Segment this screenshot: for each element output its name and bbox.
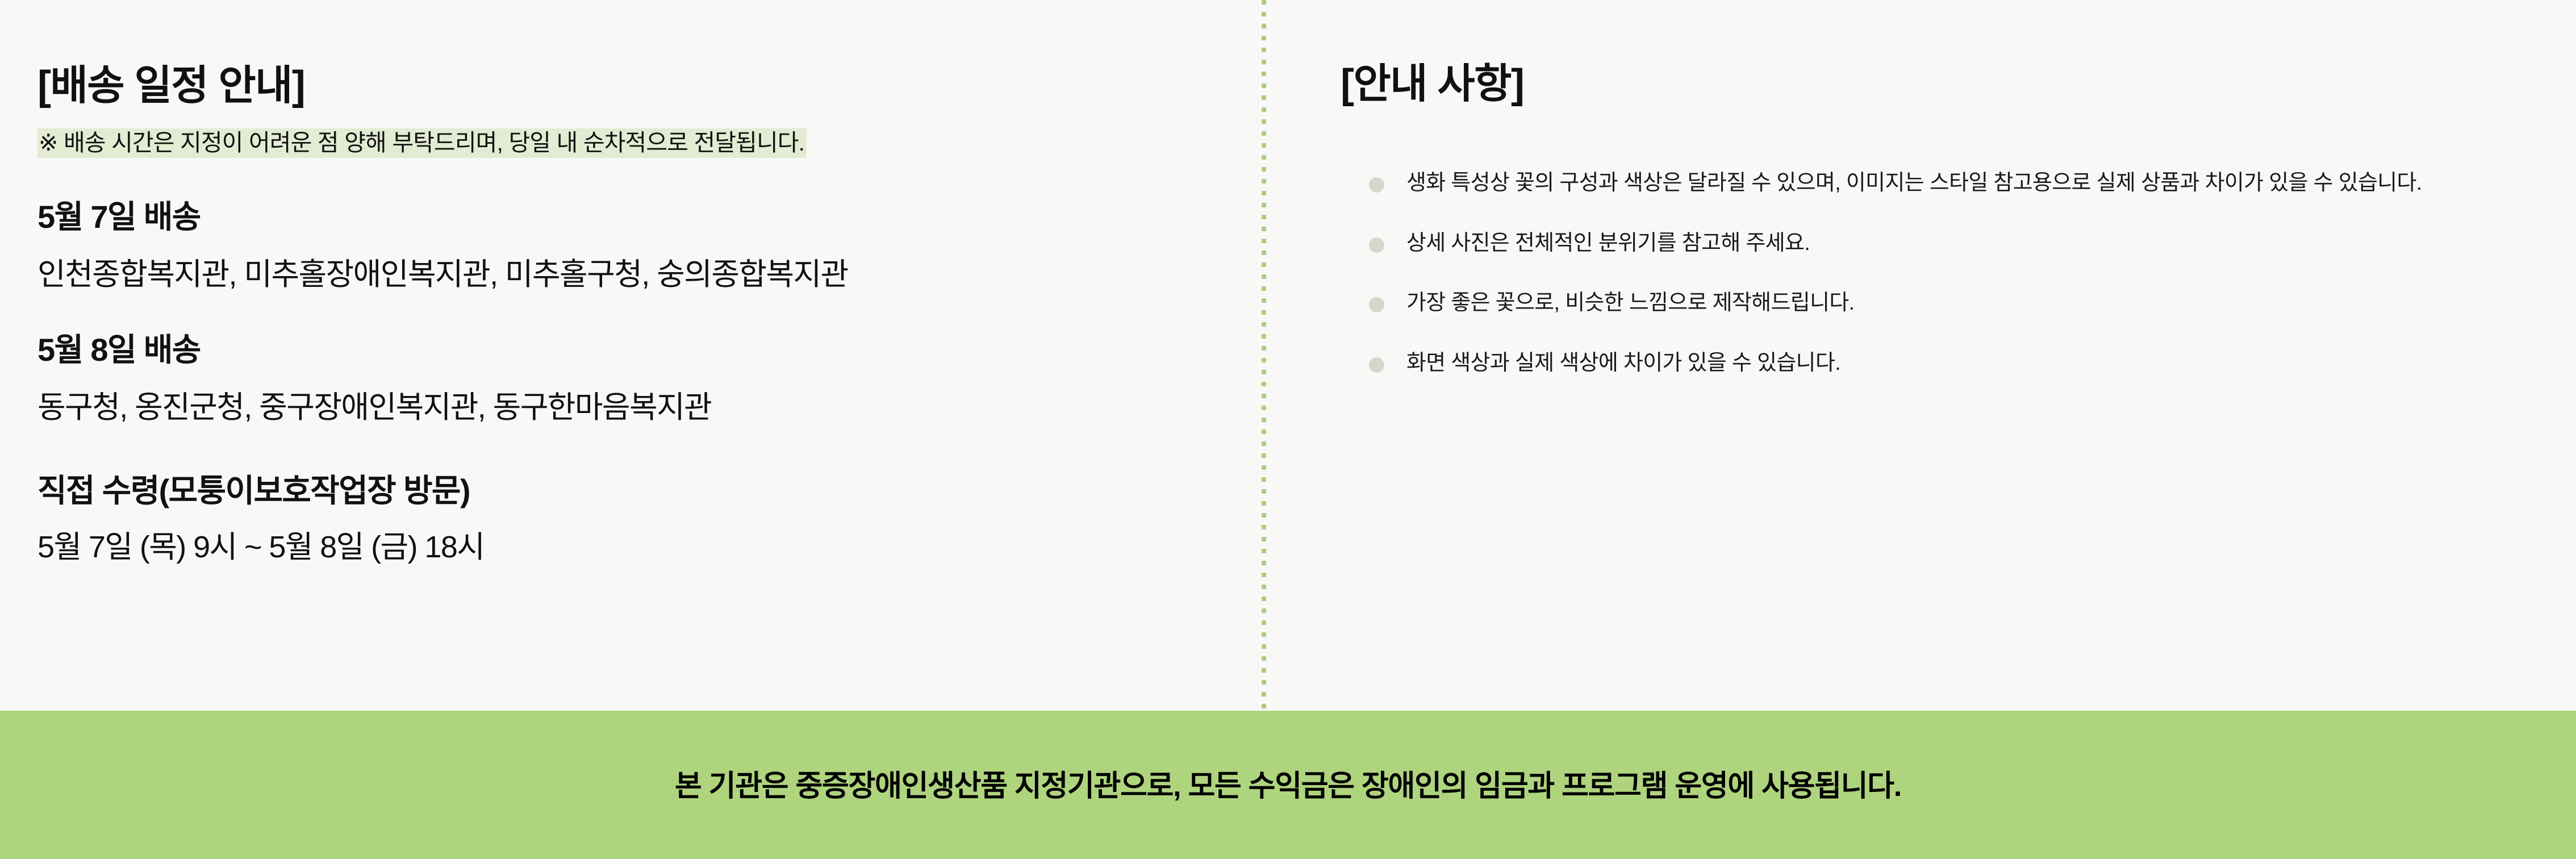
delivery-schedule-column: [배송 일정 안내] ※ 배송 시간은 지정이 어려운 점 양해 부탁드리며, … xyxy=(0,0,1262,711)
footer-banner-message: 본 기관은 중증장애인생산품 지정기관으로, 모든 수익금은 장애인의 임금과 … xyxy=(675,762,1901,808)
list-item: 화면 색상과 실제 색상에 차이가 있을 수 있습니다. xyxy=(1341,346,2511,381)
delivery-notice-text: ※ 배송 시간은 지정이 어려운 점 양해 부탁드리며, 당일 내 순차적으로 … xyxy=(37,128,807,158)
info-board: [배송 일정 안내] ※ 배송 시간은 지정이 어려운 점 양해 부탁드리며, … xyxy=(0,0,2576,711)
list-item-text: 화면 색상과 실제 색상에 차이가 있을 수 있습니다. xyxy=(1406,351,1840,375)
bullet-point-icon xyxy=(1369,297,1384,312)
delivery-date-heading: 5월 7일 배송 xyxy=(37,201,1230,233)
list-item: 상세 사진은 전체적인 분위기를 참고해 주세요. xyxy=(1341,226,2511,261)
footer-banner: 본 기관은 중증장애인생산품 지정기관으로, 모든 수익금은 장애인의 임금과 … xyxy=(0,711,2576,859)
delivery-date-heading: 5월 8일 배송 xyxy=(37,334,1230,366)
direct-pickup-block: 직접 수령(모퉁이보호작업장 방문) 5월 7일 (목) 9시 ~ 5월 8일 … xyxy=(37,475,1230,562)
information-notes-title: [안내 사항] xyxy=(1341,64,2511,105)
information-notes-column: [안내 사항] 생화 특성상 꽃의 구성과 색상은 달라질 수 있으며, 이미지… xyxy=(1266,0,2576,711)
direct-pickup-heading: 직접 수령(모퉁이보호작업장 방문) xyxy=(37,475,1230,507)
delivery-schedule-block: 5월 7일 배송 인천종합복지관, 미추홀장애인복지관, 미추홀구청, 숭의종합… xyxy=(37,201,1230,290)
list-item-text: 상세 사진은 전체적인 분위기를 참고해 주세요. xyxy=(1406,231,1810,255)
list-item-text: 생화 특성상 꽃의 구성과 색상은 달라질 수 있으며, 이미지는 스타일 참고… xyxy=(1406,171,2422,195)
bullet-point-icon xyxy=(1369,177,1384,193)
bullet-point-icon xyxy=(1369,357,1384,373)
delivery-locations: 인천종합복지관, 미추홀장애인복지관, 미추홀구청, 숭의종합복지관 xyxy=(37,259,1230,290)
list-item: 가장 좋은 꽃으로, 비슷한 느낌으로 제작해드립니다. xyxy=(1341,286,2511,321)
bullet-point-icon xyxy=(1369,237,1384,253)
delivery-locations: 동구청, 옹진군청, 중구장애인복지관, 동구한마음복지관 xyxy=(37,392,1230,423)
information-notes-list: 생화 특성상 꽃의 구성과 색상은 달라질 수 있으며, 이미지는 스타일 참고… xyxy=(1341,166,2511,381)
delivery-schedule-block: 5월 8일 배송 동구청, 옹진군청, 중구장애인복지관, 동구한마음복지관 xyxy=(37,334,1230,423)
direct-pickup-hours: 5월 7일 (목) 9시 ~ 5월 8일 (금) 18시 xyxy=(37,532,1230,562)
column-divider xyxy=(1262,0,1266,711)
list-item-text: 가장 좋은 꽃으로, 비슷한 느낌으로 제작해드립니다. xyxy=(1406,291,1854,315)
delivery-notice: ※ 배송 시간은 지정이 어려운 점 양해 부탁드리며, 당일 내 순차적으로 … xyxy=(37,125,1230,161)
list-item: 생화 특성상 꽃의 구성과 색상은 달라질 수 있으며, 이미지는 스타일 참고… xyxy=(1341,166,2511,201)
delivery-schedule-title: [배송 일정 안내] xyxy=(37,65,1230,106)
